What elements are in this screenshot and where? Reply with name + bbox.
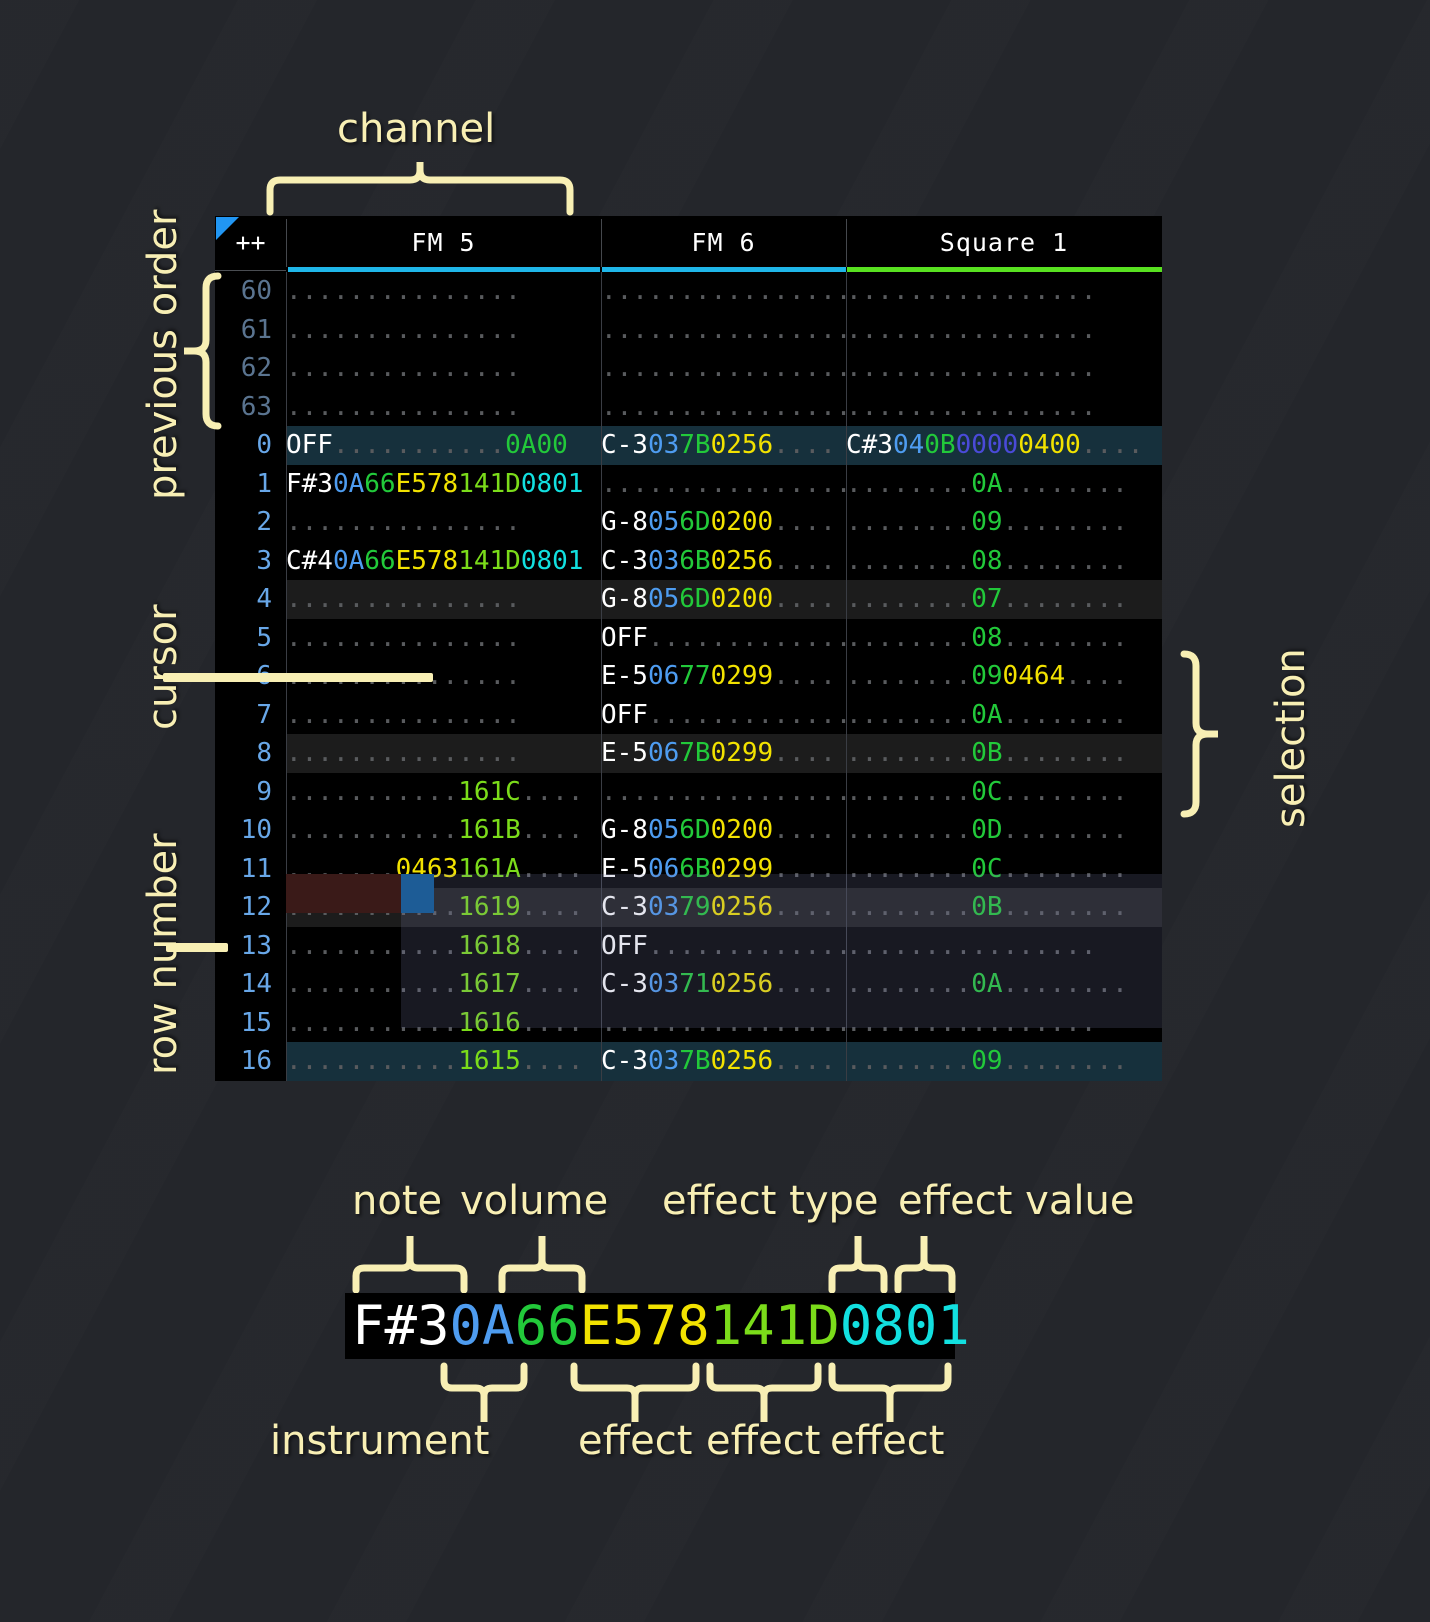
pattern-cell[interactable]: ................ (846, 311, 1162, 350)
cell-segment: ....... (286, 854, 396, 884)
row-number[interactable]: 8 (215, 734, 272, 773)
channel-header-fm5[interactable]: FM 5 (286, 216, 601, 270)
column-separator (846, 773, 847, 812)
column-separator (846, 696, 847, 735)
cell-segment: .... (773, 969, 836, 999)
column-separator (286, 734, 287, 773)
rownum-header[interactable]: ++ (215, 216, 286, 270)
cell-segment: ........ (846, 700, 971, 730)
column-separator (286, 349, 287, 388)
pattern-row[interactable]: 3C#40A66E578141D0801C-3036B0256.........… (215, 542, 1162, 581)
pattern-cell[interactable]: ........09........ (846, 1042, 1162, 1081)
cell-segment: 0200 (711, 815, 774, 845)
annotation-row-number: row number (140, 833, 186, 1075)
row-number[interactable]: 3 (215, 542, 272, 581)
effect-type-brace (828, 1232, 890, 1294)
cell-segment: .... (773, 892, 836, 922)
annotation-volume: volume (460, 1178, 608, 1224)
cell-segment: OFF (601, 931, 648, 961)
cell-segment: 66 (364, 546, 395, 576)
pattern-cell[interactable]: ...........1616.... (286, 1004, 601, 1043)
cell-segment: 09 (971, 1046, 1002, 1076)
cell-segment: 0299 (711, 854, 774, 884)
row-number[interactable]: 7 (215, 696, 272, 735)
pattern-cell[interactable]: ........08........ (846, 619, 1162, 658)
cell-segment: ........ (846, 777, 971, 807)
cell-segment: 0B (971, 892, 1002, 922)
cell-segment: .... (1081, 430, 1144, 460)
cell-segment: ........ (846, 661, 971, 691)
cell-segment: 0C (971, 777, 1002, 807)
cell-segment: ........ (1003, 546, 1128, 576)
column-separator (846, 1004, 847, 1043)
cell-segment: 03 (648, 969, 679, 999)
cell-segment: 0A (333, 546, 364, 576)
column-separator (846, 465, 847, 504)
annotation-selection: selection (1268, 648, 1314, 828)
pattern-cell[interactable]: .......0463161A.... (286, 850, 601, 889)
pattern-cell[interactable]: ............... (286, 619, 601, 658)
selection-brace (1178, 650, 1224, 820)
column-separator (286, 965, 287, 1004)
column-separator (846, 965, 847, 1004)
cell-segment: ........ (846, 584, 971, 614)
pattern-cell[interactable]: F#30A66E578141D0801 (286, 465, 601, 504)
pattern-row[interactable]: 16...........1615....C-3037B0256........… (215, 1042, 1162, 1081)
cell-segment: 7B (679, 738, 710, 768)
cell-segment: ........... (286, 931, 458, 961)
pattern-cell[interactable]: ............... (286, 349, 601, 388)
pattern-cell[interactable]: C#3040B00000400.... (846, 426, 1162, 465)
cell-segment: ................ (846, 931, 1096, 961)
legend-row-example: F#30A66E578141D0801 (352, 1293, 970, 1359)
pattern-cell[interactable]: ........0D........ (846, 811, 1162, 850)
cell-segment: ............... (286, 315, 521, 345)
cell-segment: ........ (846, 969, 971, 999)
cell-segment: 0801 (521, 469, 584, 499)
pattern-cell[interactable]: ................ (601, 465, 846, 504)
cell-segment: E-5 (601, 661, 648, 691)
cell-segment: .... (773, 584, 836, 614)
pattern-row[interactable]: 15...........1616.......................… (215, 1004, 1162, 1043)
pattern-row[interactable]: 0OFF...........0A00C-3037B0256....C#3040… (215, 426, 1162, 465)
column-separator (846, 1042, 847, 1081)
pattern-cell[interactable]: C-303710256.... (601, 965, 846, 1004)
note-brace (352, 1232, 472, 1294)
cell-segment: 161C (458, 777, 521, 807)
row-number[interactable]: 4 (215, 580, 272, 619)
column-separator (846, 311, 847, 350)
cell-segment: OFF (601, 700, 648, 730)
cell-segment: ........ (1003, 623, 1128, 653)
pattern-cell[interactable]: ........0C........ (846, 773, 1162, 812)
cell-segment: ........... (286, 815, 458, 845)
cell-segment: ............... (286, 584, 521, 614)
pattern-row[interactable]: 62......................................… (215, 349, 1162, 388)
pattern-cell[interactable]: ........0B........ (846, 888, 1162, 927)
annotation-effect-type: effect type (662, 1178, 879, 1224)
column-separator (601, 1042, 602, 1081)
cell-segment: ........ (846, 854, 971, 884)
pattern-cell[interactable]: OFF............. (601, 696, 846, 735)
pattern-cell[interactable]: ........090464.... (846, 657, 1162, 696)
cell-segment: 77 (679, 661, 710, 691)
pattern-cell[interactable]: G-8056D0200.... (601, 811, 846, 850)
column-separator (286, 503, 287, 542)
pattern-cell[interactable]: ...........1615.... (286, 1042, 601, 1081)
cell-segment: 0200 (711, 507, 774, 537)
pattern-cell[interactable]: ................ (601, 1004, 846, 1043)
cell-segment: 6B (679, 546, 710, 576)
pattern-cell[interactable]: E-5066B0299.... (601, 850, 846, 889)
pattern-row[interactable]: 11.......0463161A....E-5066B0299........… (215, 850, 1162, 889)
cell-segment: 0A (333, 469, 364, 499)
cell-segment: ........ (846, 738, 971, 768)
cell-segment: ................ (601, 392, 851, 422)
column-separator (846, 657, 847, 696)
pattern-row[interactable]: 14...........1617....C-303710256........… (215, 965, 1162, 1004)
legend-segment-e3: 0801 (840, 1294, 970, 1357)
cell-segment: .... (521, 1046, 584, 1076)
row-number[interactable]: 11 (215, 850, 272, 889)
cell-segment: ........... (286, 892, 458, 922)
column-separator (601, 542, 602, 581)
pattern-cell[interactable]: G-8056D0200.... (601, 503, 846, 542)
column-separator (286, 388, 287, 427)
column-separator (846, 580, 847, 619)
pattern-cell[interactable]: ............... (286, 580, 601, 619)
cell-segment: 09 (971, 661, 1002, 691)
column-separator (286, 619, 287, 658)
cell-segment: ................ (601, 276, 851, 306)
cell-segment: .... (521, 1008, 584, 1038)
cell-segment: C-3 (601, 969, 648, 999)
cell-segment: 0A (971, 969, 1002, 999)
cell-segment: ........... (286, 777, 458, 807)
cell-segment: E-5 (601, 854, 648, 884)
pattern-cell[interactable]: ............... (286, 272, 601, 311)
cell-segment: 0256 (711, 430, 774, 460)
volume-brace (498, 1232, 590, 1294)
cell-segment: ........... (333, 430, 505, 460)
cell-segment: ............. (648, 931, 852, 961)
column-separator (846, 811, 847, 850)
annotation-effect-c: effect (830, 1418, 944, 1464)
annotation-effect-b: effect (706, 1418, 820, 1464)
column-separator (846, 426, 847, 465)
cell-segment: ........ (846, 507, 971, 537)
cell-segment: ................ (601, 469, 851, 499)
cell-segment: 03 (648, 546, 679, 576)
cell-segment: ................ (846, 276, 1096, 306)
cell-segment: 0299 (711, 661, 774, 691)
cell-segment: ........ (1003, 1046, 1128, 1076)
pattern-cell[interactable]: ........0C........ (846, 850, 1162, 889)
cell-segment: 7B (679, 1046, 710, 1076)
pattern-cell[interactable]: ................ (601, 349, 846, 388)
cell-segment: 71 (679, 969, 710, 999)
cell-segment: ................ (846, 315, 1096, 345)
column-separator (601, 1004, 602, 1043)
cell-segment: ........ (1003, 892, 1128, 922)
column-separator (601, 619, 602, 658)
previous-order-brace (178, 272, 224, 432)
cell-segment: 06 (648, 854, 679, 884)
cell-segment: 0256 (711, 1046, 774, 1076)
cell-segment: 06 (648, 738, 679, 768)
row-number[interactable]: 14 (215, 965, 272, 1004)
cell-segment: .... (773, 546, 836, 576)
pattern-cell[interactable]: ...........1618.... (286, 927, 601, 966)
channel-header-fm6[interactable]: FM 6 (601, 216, 846, 270)
legend-segment-vol: 66 (515, 1294, 580, 1357)
pattern-cell[interactable]: ............... (286, 388, 601, 427)
cell-segment: 05 (648, 507, 679, 537)
cell-segment: G-8 (601, 815, 648, 845)
row-number[interactable]: 9 (215, 773, 272, 812)
cell-segment: ........... (286, 1008, 458, 1038)
cell-segment: 1619 (458, 892, 521, 922)
cell-segment: 0400 (1018, 430, 1081, 460)
cell-segment: 0256 (711, 969, 774, 999)
column-separator (846, 888, 847, 927)
cell-segment: ........ (846, 815, 971, 845)
legend-segment-note: F#3 (352, 1294, 450, 1357)
effect-brace-1 (570, 1360, 704, 1426)
legend-segment-e2: 141D (710, 1294, 840, 1357)
column-separator (286, 927, 287, 966)
cell-segment: 6B (679, 854, 710, 884)
pattern-cell[interactable]: E-5067B0299.... (601, 734, 846, 773)
pattern-cell[interactable]: ............... (286, 734, 601, 773)
cell-segment: ............... (286, 507, 521, 537)
pattern-cell[interactable]: OFF............. (601, 619, 846, 658)
column-separator (601, 657, 602, 696)
column-separator (286, 272, 287, 311)
row-number-pointer-line (166, 943, 228, 952)
column-separator (846, 542, 847, 581)
pattern-cell[interactable]: C-303790256.... (601, 888, 846, 927)
annotation-effect-value: effect value (898, 1178, 1134, 1224)
pattern-cell[interactable]: ............... (286, 503, 601, 542)
pattern-cell[interactable]: ........07........ (846, 580, 1162, 619)
cell-segment: ........ (846, 1046, 971, 1076)
cell-segment: E578 (396, 469, 459, 499)
cell-segment: C-3 (601, 430, 648, 460)
column-separator (601, 965, 602, 1004)
column-separator (286, 426, 287, 465)
pattern-cell[interactable]: ........08........ (846, 542, 1162, 581)
column-separator (286, 888, 287, 927)
row-number[interactable]: 12 (215, 888, 272, 927)
column-separator (601, 888, 602, 927)
cell-segment: E-5 (601, 738, 648, 768)
cell-segment: .... (521, 892, 584, 922)
cell-segment: ................ (601, 353, 851, 383)
cell-segment: .... (773, 661, 836, 691)
cell-segment: 0B (924, 430, 955, 460)
cell-segment: .... (773, 1046, 836, 1076)
pattern-row[interactable]: 8...............E-5067B0299............0… (215, 734, 1162, 773)
cell-segment: C-3 (601, 1046, 648, 1076)
cell-segment: ................ (601, 777, 851, 807)
column-separator (286, 311, 287, 350)
cell-segment: C#3 (846, 430, 893, 460)
cell-segment: 0A (971, 469, 1002, 499)
pattern-cell[interactable]: ........0A........ (846, 465, 1162, 504)
column-separator (601, 465, 602, 504)
cell-segment: 0C (971, 854, 1002, 884)
cell-segment: G-8 (601, 584, 648, 614)
pattern-cell[interactable]: OFF............. (601, 927, 846, 966)
cell-segment: ........... (286, 1046, 458, 1076)
pattern-row[interactable]: 7...............OFF.....................… (215, 696, 1162, 735)
cell-segment: 0B (971, 738, 1002, 768)
column-separator (846, 349, 847, 388)
cell-segment: .... (773, 854, 836, 884)
pattern-row[interactable]: 10...........161B....G-8056D0200........… (215, 811, 1162, 850)
cell-segment: .... (521, 854, 584, 884)
column-separator (846, 850, 847, 889)
column-separator (846, 272, 847, 311)
column-separator (846, 503, 847, 542)
cell-segment: 04 (893, 430, 924, 460)
column-separator (286, 773, 287, 812)
row-number[interactable]: 2 (215, 503, 272, 542)
pattern-row[interactable]: 9...........161C........................… (215, 773, 1162, 812)
cell-segment: 09 (971, 507, 1002, 537)
annotation-effect-a: effect (578, 1418, 692, 1464)
pattern-cell[interactable]: ...........1619.... (286, 888, 601, 927)
pattern-cell[interactable]: C-3036B0256.... (601, 542, 846, 581)
cell-segment: 6D (679, 584, 710, 614)
cell-segment: ............... (286, 392, 521, 422)
pattern-row[interactable]: 61......................................… (215, 311, 1162, 350)
column-separator (601, 503, 602, 542)
cell-segment: .... (521, 777, 584, 807)
pattern-cell[interactable]: E-506770299.... (601, 657, 846, 696)
cell-segment: ................ (846, 1008, 1096, 1038)
pattern-cell[interactable]: ........0A........ (846, 965, 1162, 1004)
pattern-cell[interactable]: ................ (846, 388, 1162, 427)
pattern-editor[interactable]: ++ FM 5 FM 6 Square 1 60................… (215, 216, 1162, 1081)
cell-segment: C#4 (286, 546, 333, 576)
pattern-cell[interactable]: C-3037B0256.... (601, 1042, 846, 1081)
cell-segment: .... (1065, 661, 1128, 691)
cell-segment: 161A (458, 854, 521, 884)
pattern-cell[interactable]: ................ (601, 311, 846, 350)
cell-segment: 7B (679, 430, 710, 460)
pattern-cell[interactable]: ...........1617.... (286, 965, 601, 1004)
column-separator (286, 1004, 287, 1043)
row-number[interactable]: 1 (215, 465, 272, 504)
cell-segment: G-8 (601, 507, 648, 537)
cell-segment: ............... (286, 738, 521, 768)
cell-segment: 0299 (711, 738, 774, 768)
cell-segment: 0464 (1003, 661, 1066, 691)
column-separator (286, 542, 287, 581)
column-separator (601, 850, 602, 889)
cell-segment: F#3 (286, 469, 333, 499)
pattern-cell[interactable]: ........09........ (846, 503, 1162, 542)
annotation-instrument: instrument (270, 1418, 489, 1464)
effect-brace-2 (706, 1360, 826, 1426)
column-separator (601, 773, 602, 812)
channel-header-square1[interactable]: Square 1 (846, 216, 1162, 270)
pattern-cell[interactable]: ................ (846, 927, 1162, 966)
pattern-cell[interactable]: ............... (286, 311, 601, 350)
pattern-row[interactable]: 63......................................… (215, 388, 1162, 427)
cell-segment: 0801 (521, 546, 584, 576)
cell-segment: 0256 (711, 546, 774, 576)
pattern-row[interactable]: 4...............G-8056D0200............0… (215, 580, 1162, 619)
column-separator (286, 580, 287, 619)
row-number[interactable]: 16 (215, 1042, 272, 1081)
pattern-cell[interactable]: ........0B........ (846, 734, 1162, 773)
rownum-header-underline (215, 270, 286, 271)
pattern-row[interactable]: 12...........1619....C-303790256........… (215, 888, 1162, 927)
pattern-cell[interactable]: ........0A........ (846, 696, 1162, 735)
pattern-cell[interactable]: ................ (846, 272, 1162, 311)
pattern-row[interactable]: 60......................................… (215, 272, 1162, 311)
cell-segment: 141D (458, 469, 521, 499)
cell-segment: 141D (458, 546, 521, 576)
pattern-cell[interactable]: ............... (286, 696, 601, 735)
instrument-brace (440, 1360, 532, 1426)
channel-header-bar: ++ FM 5 FM 6 Square 1 (215, 216, 1162, 272)
pattern-cell[interactable]: G-8056D0200.... (601, 580, 846, 619)
pattern-cell[interactable]: ................ (601, 388, 846, 427)
pattern-row[interactable]: 2...............G-8056D0200............0… (215, 503, 1162, 542)
cell-segment: 1617 (458, 969, 521, 999)
cell-segment: 0256 (711, 892, 774, 922)
annotation-note: note (352, 1178, 442, 1224)
cell-segment: ........ (1003, 777, 1128, 807)
pattern-row[interactable]: 1F#30A66E578141D0801....................… (215, 465, 1162, 504)
pattern-cell[interactable]: OFF...........0A00 (286, 426, 601, 465)
cell-segment: C-3 (601, 546, 648, 576)
cell-segment: ............... (286, 353, 521, 383)
pattern-cell[interactable]: ................ (601, 272, 846, 311)
column-separator (601, 272, 602, 311)
cell-segment: ........ (1003, 507, 1128, 537)
column-separator (286, 850, 287, 889)
cell-segment: 03 (648, 892, 679, 922)
cell-segment: 05 (648, 815, 679, 845)
pattern-cell[interactable]: ................ (846, 349, 1162, 388)
cell-segment: ........ (1003, 738, 1128, 768)
row-number[interactable]: 10 (215, 811, 272, 850)
row-number[interactable]: 15 (215, 1004, 272, 1043)
cell-segment: ........ (846, 546, 971, 576)
pattern-cell[interactable]: ...........161B.... (286, 811, 601, 850)
column-separator (601, 734, 602, 773)
legend-segment-e1: E578 (580, 1294, 710, 1357)
pattern-row[interactable]: 5...............OFF.....................… (215, 619, 1162, 658)
pattern-cell[interactable]: ...........161C.... (286, 773, 601, 812)
pattern-cell[interactable]: C#40A66E578141D0801 (286, 542, 601, 581)
pattern-cell[interactable]: C-3037B0256.... (601, 426, 846, 465)
pattern-row[interactable]: 13...........1618....OFF................… (215, 927, 1162, 966)
cell-segment: 0A00 (505, 430, 568, 460)
pattern-cell[interactable]: ................ (846, 1004, 1162, 1043)
column-separator (601, 388, 602, 427)
cell-segment: ........ (1003, 584, 1128, 614)
row-number[interactable]: 5 (215, 619, 272, 658)
cell-segment: 1615 (458, 1046, 521, 1076)
pattern-cell[interactable]: ................ (601, 773, 846, 812)
cell-segment: ............. (648, 700, 852, 730)
